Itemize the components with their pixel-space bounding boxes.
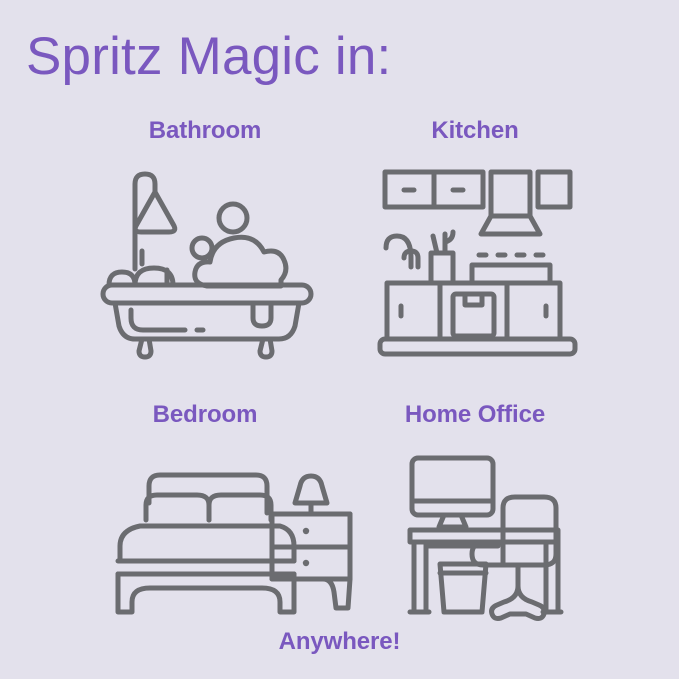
footer-label-anywhere: Anywhere!	[0, 628, 679, 656]
room-label-home-office: Home Office	[325, 401, 625, 429]
bathtub-shower-bubbles-icon	[97, 158, 317, 358]
kitchen-counter-icon	[380, 158, 575, 358]
bed-nightstand-icon	[110, 442, 355, 622]
room-label-bathroom: Bathroom	[55, 117, 355, 145]
page-title: Spritz Magic in:	[26, 27, 391, 88]
room-label-bedroom: Bedroom	[55, 401, 355, 429]
room-label-kitchen: Kitchen	[325, 117, 625, 145]
poster-canvas: Spritz Magic in: Bathroom	[0, 0, 679, 679]
desk-monitor-chair-icon	[398, 442, 578, 622]
